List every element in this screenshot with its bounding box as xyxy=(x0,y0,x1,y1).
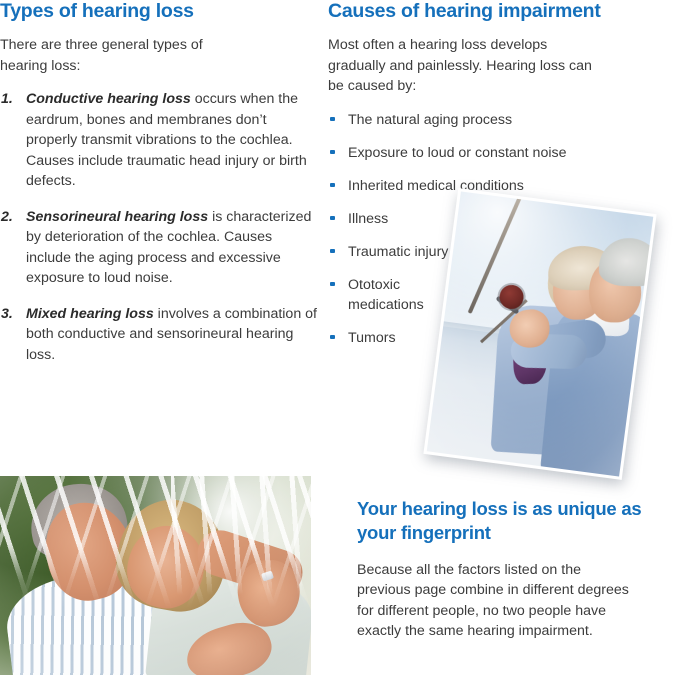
page-root: Types of hearing loss There are three ge… xyxy=(0,0,683,683)
right-intro-line-1: Most often a hearing loss develops xyxy=(328,35,683,56)
bullet-icon xyxy=(330,183,335,188)
right-intro-line-3: be caused by: xyxy=(328,76,683,97)
fingerprint-body-line-4: exactly the same hearing impairment. xyxy=(357,621,677,642)
list-item: Inherited medical conditions xyxy=(328,176,683,196)
fingerprint-body-line-2: previous page combine in different degre… xyxy=(357,580,677,601)
list-item-term: Sensorineural hearing loss xyxy=(26,209,208,225)
list-item-number: 2. xyxy=(1,207,13,228)
left-intro-line-2: hearing loss: xyxy=(0,56,318,77)
fishing-photo-image xyxy=(427,191,654,476)
list-item-term: Mixed hearing loss xyxy=(26,306,154,322)
list-item: Exposure to loud or constant noise xyxy=(328,143,683,163)
list-item: 1.Conductive hearing loss occurs when th… xyxy=(0,89,318,192)
bullet-icon xyxy=(330,216,335,221)
photo-vignette xyxy=(0,476,311,675)
fingerprint-body-line-3: for different people, no two people have xyxy=(357,601,677,622)
right-column-intro: Most often a hearing loss develops gradu… xyxy=(328,35,683,97)
list-item-number: 3. xyxy=(1,304,13,325)
left-intro-line-1: There are three general types of xyxy=(0,35,318,56)
left-column-heading: Types of hearing loss xyxy=(0,0,318,22)
list-item-text: The natural aging process xyxy=(348,110,683,130)
list-item: The natural aging process xyxy=(328,110,683,130)
fingerprint-heading-line-1: Your hearing loss is as xyxy=(357,498,552,519)
types-of-hearing-loss-list: 1.Conductive hearing loss occurs when th… xyxy=(0,89,318,365)
couple-fishing-photo xyxy=(423,188,656,480)
fishing-photo-frame xyxy=(423,188,656,480)
fingerprint-body-line-1: Because all the factors listed on the xyxy=(357,560,677,581)
bullet-icon xyxy=(330,335,335,340)
photo-vignette xyxy=(427,191,654,476)
list-item: 2.Sensorineural hearing loss is characte… xyxy=(0,207,318,289)
right-column-heading: Causes of hearing impairment xyxy=(328,0,683,22)
couple-in-hammock-photo xyxy=(0,476,311,675)
bullet-icon xyxy=(330,249,335,254)
list-item-text: Inherited medical conditions xyxy=(348,176,683,196)
list-item: 3.Mixed hearing loss involves a combinat… xyxy=(0,304,318,366)
left-column: Types of hearing loss There are three ge… xyxy=(0,0,318,380)
bullet-icon xyxy=(330,117,335,122)
list-item-number: 1. xyxy=(1,89,13,110)
bullet-icon xyxy=(330,150,335,155)
bullet-icon xyxy=(330,282,335,287)
fingerprint-body: Because all the factors listed on the pr… xyxy=(357,560,677,642)
bottom-right-block: Your hearing loss is as unique as your f… xyxy=(357,497,677,655)
list-item-term: Conductive hearing loss xyxy=(26,91,191,107)
right-intro-line-2: gradually and painlessly. Hearing loss c… xyxy=(328,56,683,77)
list-item-text: Exposure to loud or constant noise xyxy=(348,143,683,163)
left-column-intro: There are three general types of hearing… xyxy=(0,35,318,76)
fingerprint-heading: Your hearing loss is as unique as your f… xyxy=(357,497,677,546)
